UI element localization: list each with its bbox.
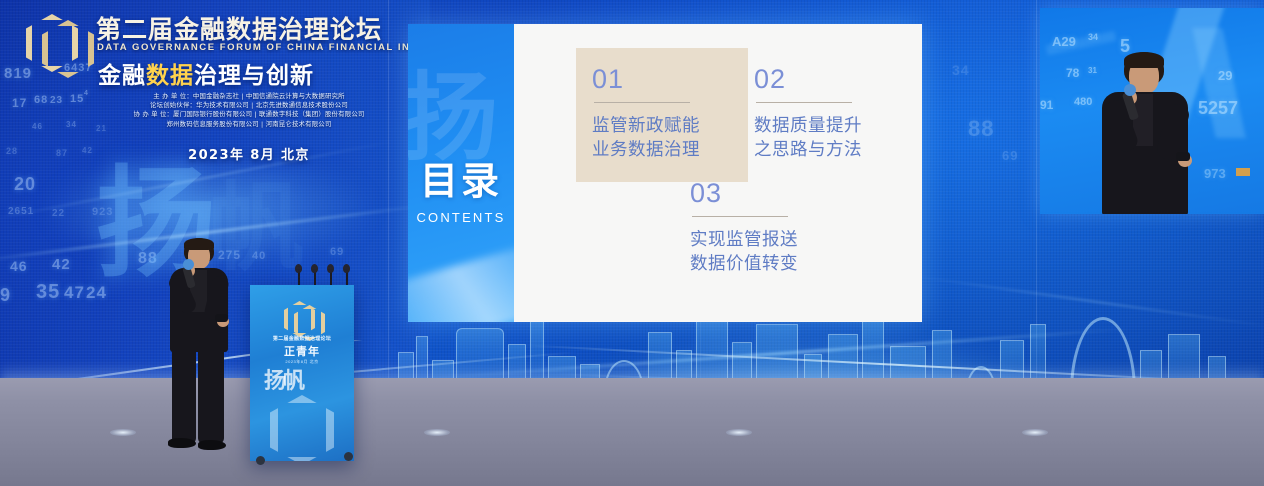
item-line1: 数据质量提升	[754, 114, 894, 138]
item-rule	[692, 216, 788, 217]
banner-date-city: 2023年 8月 北京	[90, 144, 408, 163]
floor-light	[1022, 429, 1048, 436]
event-banner: 第二届金融数据治理论坛 DATA GOVERNANCE FORUM OF CHI…	[18, 4, 410, 174]
item-line2: 之思路与方法	[754, 138, 894, 162]
banner-organizer-lines: 主 办 单 位：中国金融杂志社 | 中国信通院云计算与大数据研究所 论坛创始伙伴…	[90, 92, 408, 129]
feed-number: A29	[1052, 34, 1076, 49]
banner-subtitle: 金融数据治理与创新	[98, 56, 314, 90]
podium-title: 第二届金融数据治理论坛	[250, 335, 354, 342]
subtitle-highlight: 数据	[146, 63, 194, 89]
organizer-line: 协 办 单 位：厦门国际银行股份有限公司 | 联通数字科技（集团）股份有限公司	[90, 110, 408, 119]
conference-stage-photo: 819 6437 17 68 23 15 4 46 34 21 28 87 42…	[0, 0, 1264, 486]
slide-item-01: 01 监管新政赋能 业务数据治理	[576, 48, 748, 182]
floor-light	[424, 429, 450, 436]
feed-number: 78	[1066, 66, 1079, 80]
feed-number: 973	[1204, 166, 1226, 181]
slide-contents-panel: 扬 目录 CONTENTS	[408, 24, 514, 322]
floor-light	[110, 429, 136, 436]
slide-items-panel: 01 监管新政赋能 业务数据治理 02 数据质量提升 之思路与方法 03 实现监…	[514, 24, 922, 322]
podium-calligraphy: 扬帆	[264, 363, 302, 395]
subtitle-prefix: 金融	[98, 63, 146, 89]
item-rule	[756, 102, 852, 103]
podium-wheel	[344, 452, 353, 461]
live-camera-feed-screen: A29 34 5 78 31 29 91 480 5257 973	[1040, 8, 1264, 214]
feed-number: 34	[1088, 32, 1098, 42]
item-rule	[594, 102, 690, 103]
banner-title-en: DATA GOVERNANCE FORUM OF CHINA FINANCIAL…	[97, 42, 458, 53]
forum-hexagon-logo-icon	[26, 10, 88, 68]
floor-light	[726, 429, 752, 436]
feed-number: 31	[1088, 66, 1097, 75]
panel-light-streak	[408, 237, 514, 322]
item-index: 02	[754, 66, 894, 93]
organizer-line: 郑州数码信息服务股份有限公司 | 河南昆仑技术有限公司	[90, 120, 408, 129]
item-index: 01	[592, 66, 732, 93]
presentation-slide: 扬 目录 CONTENTS 01 监管新政赋能 业务数据治理 02 数据质量提升…	[408, 24, 922, 322]
organizer-line: 主 办 单 位：中国金融杂志社 | 中国信通院云计算与大数据研究所	[90, 92, 408, 101]
item-index: 03	[690, 180, 830, 207]
item-line2: 数据价值转变	[690, 252, 830, 276]
feed-number: 91	[1040, 98, 1053, 112]
podium-big-text: 正青年	[250, 343, 354, 359]
slide-contents-title-en: CONTENTS	[408, 210, 514, 225]
feed-number: 480	[1074, 96, 1092, 108]
slide-contents-title-cn: 目录	[408, 162, 514, 200]
podium-wheel	[256, 456, 265, 465]
slide-item-03: 03 实现监管报送 数据价值转变	[674, 180, 846, 276]
slide-item-02: 02 数据质量提升 之思路与方法	[738, 48, 910, 182]
podium-logo-icon	[284, 299, 320, 331]
item-line1: 实现监管报送	[690, 228, 830, 252]
item-line1: 监管新政赋能	[592, 114, 732, 138]
item-line2: 业务数据治理	[592, 138, 732, 162]
podium: 第二届金融数据治理论坛 正青年 2023年8月 北京 扬帆	[250, 285, 354, 461]
feed-number: 29	[1218, 68, 1232, 83]
podium-large-hexagon-icon	[270, 395, 334, 461]
banner-title-cn: 第二届金融数据治理论坛	[96, 10, 382, 46]
subtitle-suffix: 治理与创新	[194, 63, 314, 89]
feed-number: 5257	[1198, 98, 1238, 119]
